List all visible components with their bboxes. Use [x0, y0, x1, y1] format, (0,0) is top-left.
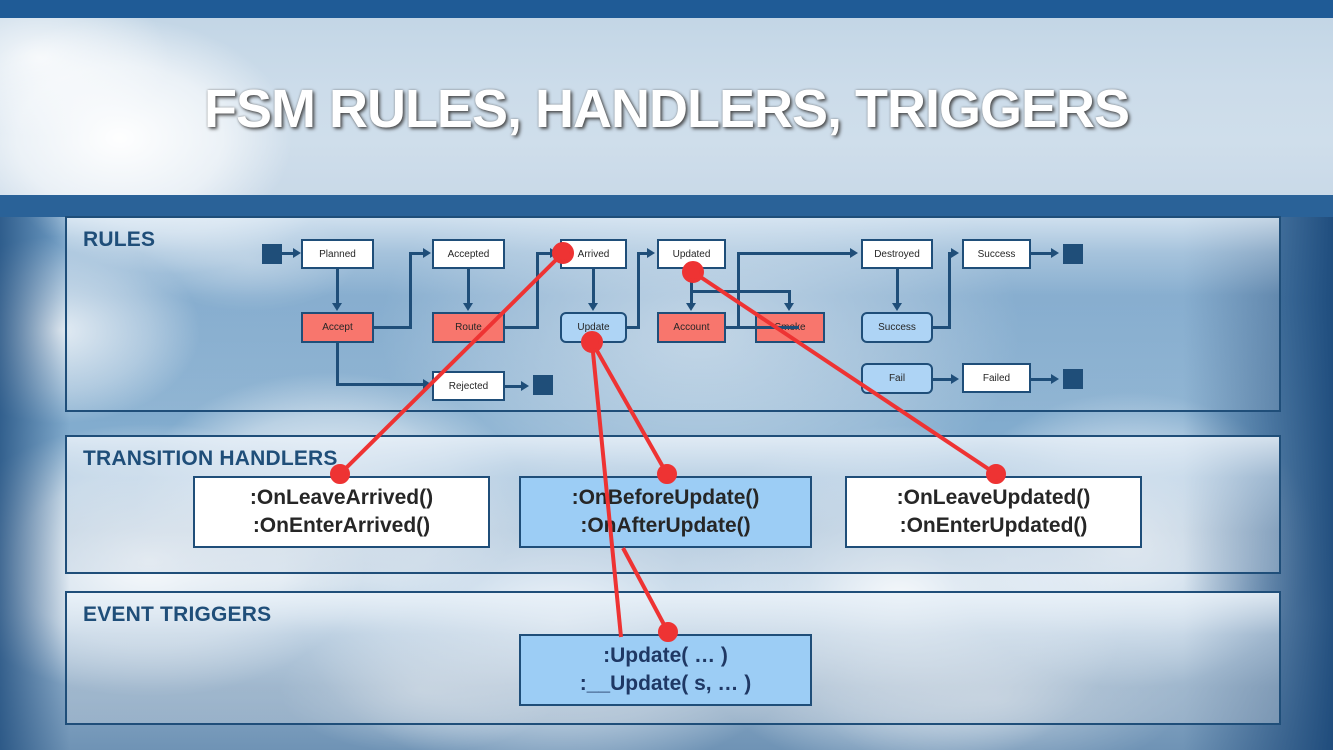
fsm-arrow	[784, 303, 794, 311]
fsm-edge-route-arrived-h2	[536, 252, 550, 255]
fsm-arrow	[521, 381, 529, 391]
handler-line-1: :OnBeforeUpdate()	[572, 484, 760, 512]
handler-line-2: :OnAfterUpdate()	[580, 512, 750, 540]
fsm-node-success[interactable]: Success	[962, 239, 1031, 269]
fsm-edge-accept-rejected-v	[336, 343, 339, 385]
fsm-arrow	[332, 303, 342, 311]
section-label-triggers: EVENT TRIGGERS	[83, 603, 271, 627]
fsm-edge-route-arrived-h	[505, 326, 539, 329]
fsm-node-failed[interactable]: Failed	[962, 363, 1031, 393]
handler-line-2: :OnEnterArrived()	[253, 512, 430, 540]
trigger-line-1: :Update( … )	[603, 642, 728, 670]
fsm-arrow	[951, 374, 959, 384]
fsm-edge-accept-accepted-h2	[409, 252, 423, 255]
top-accent-bar	[0, 0, 1333, 18]
fsm-arrow	[850, 248, 858, 258]
fsm-arrow	[686, 303, 696, 311]
fsm-node-destroyed[interactable]: Destroyed	[861, 239, 933, 269]
fsm-arrow	[423, 379, 431, 389]
fsm-node-update[interactable]: Update	[560, 312, 627, 343]
fsm-edge-failed-end	[1031, 378, 1052, 381]
fsm-node-accept[interactable]: Accept	[301, 312, 374, 343]
fsm-edge-rejected-end	[505, 385, 522, 388]
trigger-line-2: :__Update( s, … )	[580, 670, 752, 698]
fsm-arrow	[892, 303, 902, 311]
fsm-arrow	[1051, 374, 1059, 384]
fsm-node-fail[interactable]: Fail	[861, 363, 933, 394]
fsm-arrow	[1051, 248, 1059, 258]
fsm-edge-accept-rejected-h	[336, 383, 424, 386]
fsm-arrow	[293, 248, 301, 258]
fsm-end-terminal-rejected	[533, 375, 553, 395]
slide-canvas: FSM RULES, HANDLERS, TRIGGERS RULES Plan…	[0, 0, 1333, 750]
trigger-callout-update[interactable]: :Update( … ) :__Update( s, … )	[519, 634, 812, 706]
fsm-edge-destroyed-success	[896, 269, 899, 303]
fsm-edge-successsub-success-v	[948, 252, 951, 329]
fsm-start-terminal	[262, 244, 282, 264]
fsm-node-route[interactable]: Route	[432, 312, 505, 343]
fsm-edge-account-destroyed-h2	[737, 252, 851, 255]
handler-callout-updated[interactable]: :OnLeaveUpdated() :OnEnterUpdated()	[845, 476, 1142, 548]
section-label-rules: RULES	[83, 228, 155, 252]
fsm-arrow	[951, 248, 959, 258]
fsm-edge-route-arrived-v	[536, 252, 539, 329]
fsm-edge-accepted-route	[467, 269, 470, 303]
banner-bottom-bar	[0, 195, 1333, 217]
handler-line-1: :OnLeaveUpdated()	[897, 484, 1091, 512]
fsm-end-terminal-success	[1063, 244, 1083, 264]
fsm-node-success-sub[interactable]: Success	[861, 312, 933, 343]
handler-callout-arrived[interactable]: :OnLeaveArrived() :OnEnterArrived()	[193, 476, 490, 548]
section-label-handlers: TRANSITION HANDLERS	[83, 447, 338, 471]
fsm-arrow	[463, 303, 473, 311]
fsm-node-accepted[interactable]: Accepted	[432, 239, 505, 269]
fsm-edge-fail-failed	[933, 378, 951, 381]
fsm-edge-update-updated-v	[637, 252, 640, 329]
fsm-node-account[interactable]: Account	[657, 312, 726, 343]
fsm-arrow	[588, 303, 598, 311]
handler-line-2: :OnEnterUpdated()	[900, 512, 1088, 540]
fsm-end-terminal-failed	[1063, 369, 1083, 389]
fsm-edge-arrived-update	[592, 269, 595, 303]
fsm-node-rejected[interactable]: Rejected	[432, 371, 505, 401]
fsm-node-planned[interactable]: Planned	[301, 239, 374, 269]
handler-line-1: :OnLeaveArrived()	[250, 484, 433, 512]
fsm-edge-updated-smoke-h	[690, 290, 790, 293]
fsm-edge-updated-smoke-v	[788, 290, 791, 304]
fsm-edge-account-destroyed-v	[737, 252, 740, 329]
fsm-node-updated[interactable]: Updated	[657, 239, 726, 269]
handler-callout-update[interactable]: :OnBeforeUpdate() :OnAfterUpdate()	[519, 476, 812, 548]
fsm-edge-accept-accepted-v	[409, 252, 412, 329]
fsm-arrow	[550, 248, 558, 258]
fsm-node-arrived[interactable]: Arrived	[560, 239, 627, 269]
fsm-edge-accept-accepted-h	[374, 326, 412, 329]
fsm-arrow	[647, 248, 655, 258]
page-title: FSM RULES, HANDLERS, TRIGGERS	[0, 78, 1333, 140]
fsm-edge-success-end	[1031, 252, 1052, 255]
fsm-edge-updated-account	[690, 269, 693, 303]
fsm-arrow	[423, 248, 431, 258]
fsm-edge-planned-accept	[336, 269, 339, 303]
